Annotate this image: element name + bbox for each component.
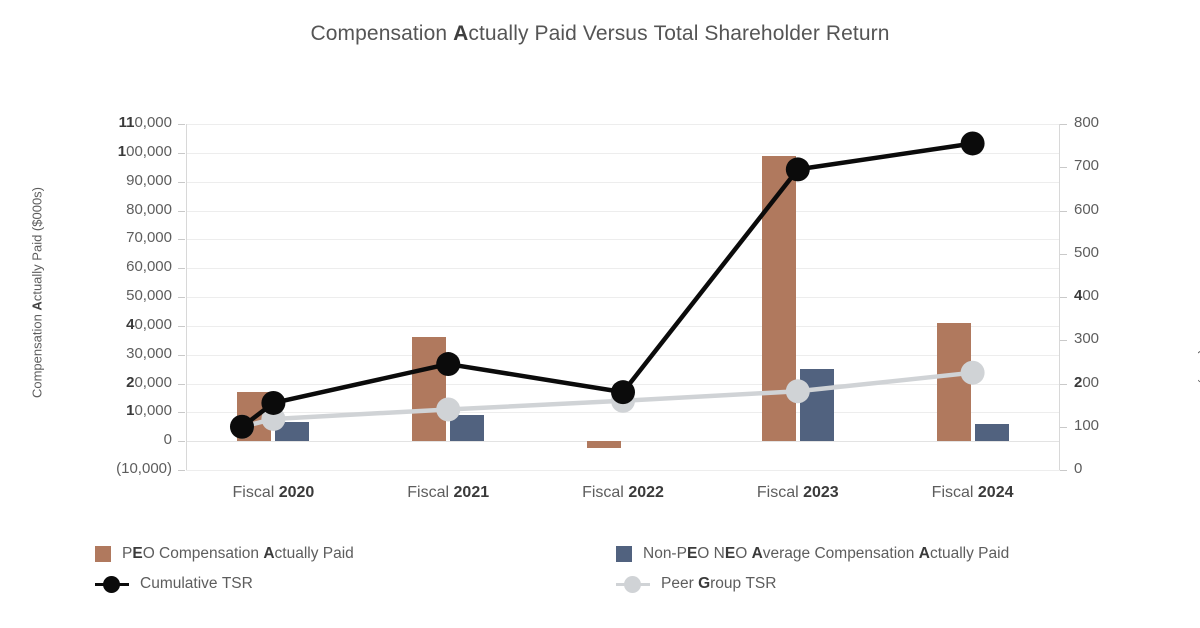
y-axis-right-tick-label: 300 [1074, 330, 1184, 347]
marker-cumulative-tsr [786, 157, 810, 181]
line-peer-group-tsr [242, 373, 973, 427]
gridline [186, 470, 1060, 471]
y-axis-right-tickmark [1060, 340, 1067, 341]
legend-label: PEO Compensation Actually Paid [122, 545, 354, 563]
legend-label: Non-PEO NEO Average Compensation Actuall… [643, 545, 1009, 563]
y-axis-left-tickmark [178, 412, 185, 413]
legend-swatch-line-dot-icon [95, 575, 129, 593]
y-axis-right-tick-label: 800 [1074, 114, 1184, 131]
marker-cumulative-tsr [961, 131, 985, 155]
y-axis-left-tickmark [178, 153, 185, 154]
y-axis-right-tickmark [1060, 470, 1067, 471]
y-axis-left-tickmark [178, 297, 185, 298]
y-axis-left-tick-label: 30,000 [62, 345, 172, 362]
tsr-line-overlay [186, 124, 1060, 470]
y-axis-right-tickmark [1060, 167, 1067, 168]
legend-item-peer-group-tsr[interactable]: Peer Group TSR [616, 575, 776, 593]
y-axis-left-tick-label: 50,000 [62, 287, 172, 304]
legend-item-non-peo-neo-comp[interactable]: Non-PEO NEO Average Compensation Actuall… [616, 545, 1009, 563]
legend-swatch-line-dot-icon [616, 575, 650, 593]
y-axis-left-tickmark [178, 268, 185, 269]
y-axis-left-tick-label: 110,000 [62, 114, 172, 131]
y-axis-right-tickmark [1060, 211, 1067, 212]
y-axis-right-tick-label: 700 [1074, 157, 1184, 174]
legend-swatch-square-icon [95, 546, 111, 562]
y-axis-right-tick-label: 600 [1074, 201, 1184, 218]
y-axis-right-tick-label: 100 [1074, 417, 1184, 434]
y-axis-left-title: Compensation Actually Paid ($000s) [30, 143, 45, 443]
legend-dot-icon [624, 576, 641, 593]
chart-page: Compensation Actually Paid Versus Total … [0, 0, 1200, 628]
y-axis-left-tickmark [178, 326, 185, 327]
y-axis-left-tickmark [178, 470, 185, 471]
y-axis-left-tickmark [178, 182, 185, 183]
y-axis-left-tickmark [178, 211, 185, 212]
page-title: Compensation Actually Paid Versus Total … [0, 22, 1200, 46]
y-axis-left-tick-label: 60,000 [62, 258, 172, 275]
y-axis-left-tick-label: 100,000 [62, 143, 172, 160]
marker-peer-group-tsr [436, 397, 460, 421]
y-axis-left-tickmark [178, 124, 185, 125]
legend-label: Cumulative TSR [140, 575, 253, 593]
y-axis-left-tick-label: (10,000) [62, 460, 172, 477]
legend-item-cumulative-tsr[interactable]: Cumulative TSR [95, 575, 253, 593]
legend-item-peo-comp[interactable]: PEO Compensation Actually Paid [95, 545, 354, 563]
y-axis-right-ticks: 8007006005004003002001000 [1074, 124, 1186, 470]
x-axis-label-fiscal-2020: Fiscal 2020 [186, 484, 361, 502]
y-axis-left-tickmark [178, 441, 185, 442]
y-axis-left-tick-label: 80,000 [62, 201, 172, 218]
y-axis-left-ticks: 110,000100,00090,00080,00070,00060,00050… [60, 124, 172, 470]
plot-area [186, 124, 1060, 470]
y-axis-right-tickmark [1060, 254, 1067, 255]
marker-peer-group-tsr [786, 379, 810, 403]
y-axis-right-tickmark [1060, 427, 1067, 428]
x-axis-labels: Fiscal 2020Fiscal 2021Fiscal 2022Fiscal … [186, 484, 1060, 510]
legend-dot-icon [103, 576, 120, 593]
y-axis-right-tick-label: 400 [1074, 287, 1184, 304]
y-axis-left-tick-label: 0 [62, 431, 172, 448]
legend-label: Peer Group TSR [661, 575, 776, 593]
y-axis-left-tickmark [178, 384, 185, 385]
y-axis-left-tick-label: 20,000 [62, 374, 172, 391]
y-axis-right-tickmark [1060, 297, 1067, 298]
marker-peer-group-tsr [961, 361, 985, 385]
marker-cumulative-tsr [230, 415, 254, 439]
y-axis-right-tickmark [1060, 124, 1067, 125]
marker-cumulative-tsr [261, 391, 285, 415]
y-axis-right-tick-label: 200 [1074, 374, 1184, 391]
legend-swatch-square-icon [616, 546, 632, 562]
marker-cumulative-tsr [436, 352, 460, 376]
y-axis-left-tickmark [178, 355, 185, 356]
chart-legend: PEO Compensation Actually PaidNon-PEO NE… [95, 545, 1155, 605]
x-axis-label-fiscal-2021: Fiscal 2021 [361, 484, 536, 502]
x-axis-label-fiscal-2022: Fiscal 2022 [536, 484, 711, 502]
y-axis-left-tickmark [178, 239, 185, 240]
y-axis-right-tick-label: 0 [1074, 460, 1184, 477]
y-axis-left-tick-label: 10,000 [62, 402, 172, 419]
marker-cumulative-tsr [611, 380, 635, 404]
y-axis-right-tickmark [1060, 384, 1067, 385]
y-axis-left-tick-label: 40,000 [62, 316, 172, 333]
x-axis-label-fiscal-2024: Fiscal 2024 [885, 484, 1060, 502]
y-axis-right-tick-label: 500 [1074, 244, 1184, 261]
x-axis-label-fiscal-2023: Fiscal 2023 [710, 484, 885, 502]
y-axis-left-tick-label: 90,000 [62, 172, 172, 189]
y-axis-left-tick-label: 70,000 [62, 229, 172, 246]
